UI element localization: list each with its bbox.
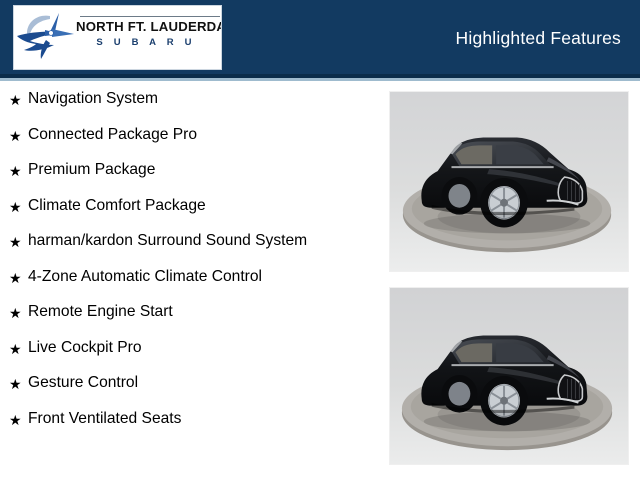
features-list: ★Navigation System★Connected Package Pro…	[0, 88, 370, 443]
vehicle-photo-front-three-quarter[interactable]	[389, 91, 629, 272]
feature-item-label: Live Cockpit Pro	[28, 337, 370, 359]
feature-item: ★Climate Comfort Package	[0, 195, 370, 217]
star-icon: ★	[9, 231, 22, 253]
feature-item: ★4-Zone Automatic Climate Control	[0, 266, 370, 288]
header-underline-accent	[0, 78, 640, 81]
feature-item-label: Climate Comfort Package	[28, 195, 370, 217]
feature-item-label: Front Ventilated Seats	[28, 408, 370, 430]
star-icon: ★	[9, 409, 22, 431]
feature-item: ★Premium Package	[0, 159, 370, 181]
feature-item-label: 4-Zone Automatic Climate Control	[28, 266, 370, 288]
page-title: Highlighted Features	[456, 28, 621, 49]
star-icon: ★	[9, 89, 22, 111]
dealer-logo[interactable]: NORTH FT. LAUDERDALE S U B A R U	[13, 5, 222, 70]
logo-dealer-name: NORTH FT. LAUDERDALE	[76, 19, 222, 34]
star-icon: ★	[9, 125, 22, 147]
feature-item-label: Connected Package Pro	[28, 124, 370, 146]
star-icon: ★	[9, 338, 22, 360]
feature-item-label: Navigation System	[28, 88, 370, 110]
feature-item-label: Remote Engine Start	[28, 301, 370, 323]
feature-item: ★Gesture Control	[0, 372, 370, 394]
star-icon: ★	[9, 196, 22, 218]
feature-item: ★Live Cockpit Pro	[0, 337, 370, 359]
feature-item: ★Remote Engine Start	[0, 301, 370, 323]
feature-item: ★harman/kardon Surround Sound System	[0, 230, 370, 252]
feature-item-label: harman/kardon Surround Sound System	[28, 230, 308, 252]
star-icon: ★	[9, 267, 22, 289]
feature-item: ★Navigation System	[0, 88, 370, 110]
star-icon: ★	[9, 160, 22, 182]
logo-text: NORTH FT. LAUDERDALE S U B A R U	[76, 16, 222, 48]
logo-brand-name: S U B A R U	[76, 37, 216, 48]
logo-divider	[80, 16, 220, 17]
star-icon: ★	[9, 373, 22, 395]
feature-item: ★Connected Package Pro	[0, 124, 370, 146]
feature-item: ★Front Ventilated Seats	[0, 408, 370, 430]
feature-item-label: Premium Package	[28, 159, 370, 181]
vehicle-photo-front-three-quarter-2[interactable]	[389, 287, 629, 465]
feature-item-label: Gesture Control	[28, 372, 370, 394]
star-icon: ★	[9, 302, 22, 324]
